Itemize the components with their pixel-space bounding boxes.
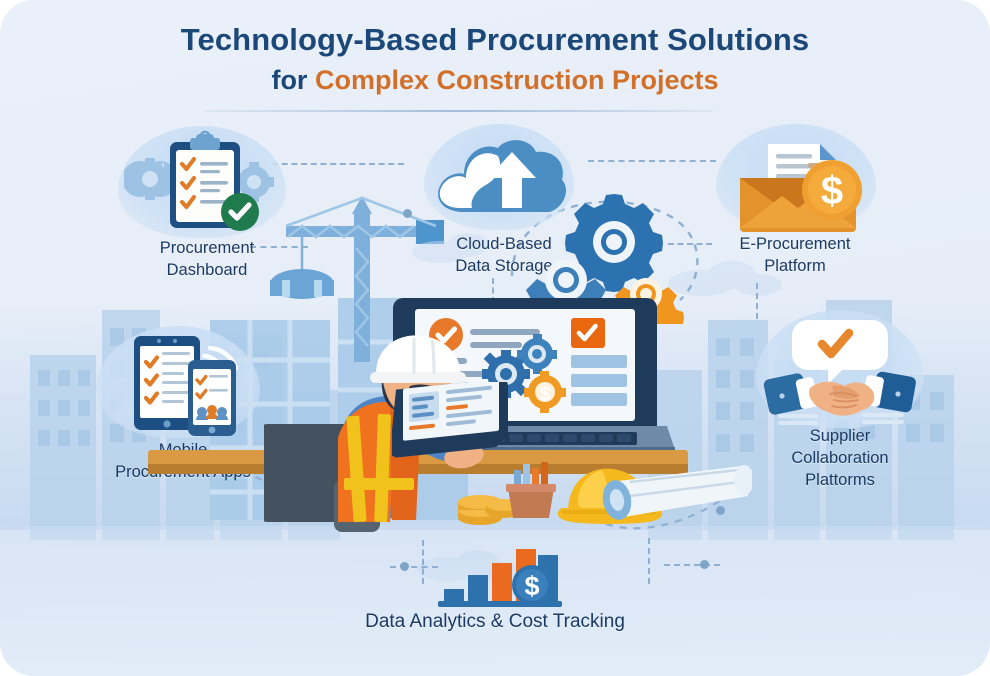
title-divider [205,110,713,112]
connector-dash-eproc-down [756,283,758,319]
connector-dash-bottom-stem-left [422,540,424,584]
node-label-supplier-collaboration: Supplier Collaboration Plattorms [742,426,938,491]
subtitle-prefix: for [271,65,315,95]
clipboard-checklist-icon [124,128,284,236]
pencil-cup [506,462,556,518]
connector-dot-left [400,562,409,571]
connector-dash-bottom-stem-right [648,538,650,584]
node-label-eprocurement-platform: E-Procurement Platform [700,234,890,278]
worker-tablet-device [392,382,514,462]
node-label-data-analytics: Data Analytics & Cost Tracking [300,609,690,634]
infographic-canvas: Technology-Based Procurement Solutions f… [0,0,990,676]
page-subtitle: for Complex Construction Projects [0,64,990,96]
page-title: Technology-Based Procurement Solutions [0,22,990,59]
connector-dot-crane [403,209,412,218]
node-label-procurement-dashboard: Procurement Dashboard [112,238,302,282]
handshake-approval-icon [762,314,918,428]
connector-dot-right [700,560,709,569]
tablet-phone-checklist-icon [106,332,256,438]
subtitle-accent: Complex Construction Projects [315,65,719,95]
connector-dash-bottom-right [664,564,720,566]
svg-text:$: $ [821,169,843,213]
connector-dash-top-right [588,160,716,162]
title-block: Technology-Based Procurement Solutions f… [0,22,990,96]
connector-dash-top-left [272,163,404,165]
svg-text:$: $ [540,384,551,405]
desk-items [452,452,752,530]
envelope-document-dollar-icon: $ [722,130,872,234]
bar-chart-dollar-icon: $ [428,545,562,607]
svg-text:$: $ [524,571,539,601]
